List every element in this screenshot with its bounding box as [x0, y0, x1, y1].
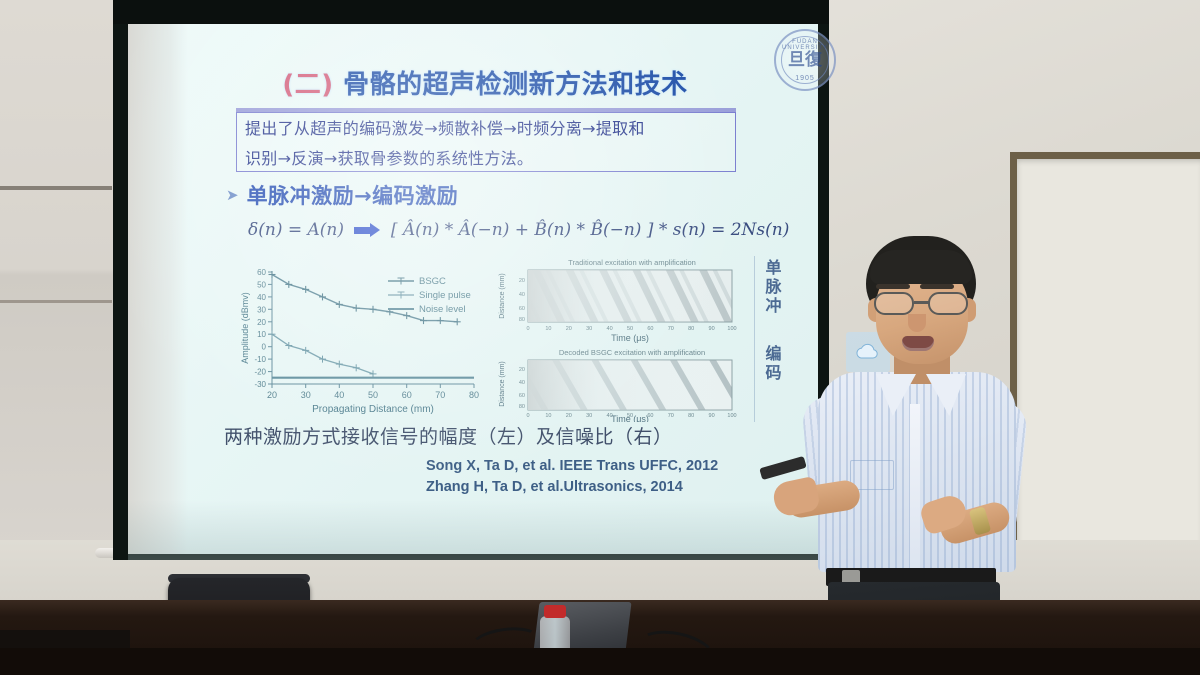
svg-text:80: 80 — [519, 404, 525, 410]
slide-title: (二) 骨骼的超声检测新方法和技术 — [240, 64, 730, 101]
svg-text:20: 20 — [566, 413, 572, 419]
bullet-label: 单脉冲激励→编码激励 — [247, 180, 459, 210]
amplitude-chart-svg: -30-20 -100 1020 3040 5060 2030 4050 607… — [236, 264, 488, 416]
figure-caption: 两种激励方式接收信号的幅度（左）及信噪比（右） — [224, 422, 764, 449]
lecture-photo-scene: (二) 骨骼的超声检测新方法和技术 FUDAN UNIVERSITY 旦復 19… — [0, 0, 1200, 675]
svg-text:30: 30 — [257, 305, 266, 314]
amplitude-vs-distance-chart: -30-20 -100 1020 3040 5060 2030 4050 607… — [236, 264, 488, 416]
x-axis-label: Propagating Distance (mm) — [312, 404, 434, 415]
svg-text:50: 50 — [627, 326, 633, 332]
svg-text:100: 100 — [727, 413, 736, 419]
reference-item: Zhang H, Ta D, et al.Ultrasonics, 2014 — [426, 477, 826, 498]
callout-box: 提出了从超声的编码激发→频散补偿→时频分离→提取和 识别→反演→获取骨参数的系统… — [236, 112, 736, 172]
svg-text:80: 80 — [688, 326, 694, 332]
svg-text:30: 30 — [586, 326, 592, 332]
nose — [908, 314, 926, 332]
side-annotation-column: 单脉冲 编码 — [754, 256, 794, 422]
glasses-lens-right — [928, 292, 968, 315]
logo-characters: 旦復 — [776, 51, 834, 69]
bscan-figures: Traditional excitation with amplificatio… — [492, 256, 750, 422]
glasses-bridge — [914, 301, 930, 304]
chart-legend: BSGC Single pulse Noise level — [388, 276, 471, 315]
svg-text:90: 90 — [709, 413, 715, 419]
bottom-panel-y-label: Distance (mm) — [499, 361, 506, 407]
side-label-encoded: 编码 — [759, 344, 789, 382]
svg-text:40: 40 — [519, 380, 525, 386]
svg-text:70: 70 — [668, 326, 674, 332]
svg-text:0: 0 — [262, 343, 267, 352]
glasses-icon — [872, 292, 972, 316]
svg-text:100: 100 — [727, 326, 736, 332]
legend-label-bsgc: BSGC — [419, 276, 446, 287]
wall-seam-lower — [0, 300, 112, 303]
svg-text:20: 20 — [519, 278, 525, 284]
bullet-row: ➤ 单脉冲激励→编码激励 — [226, 180, 706, 210]
side-label-single-pulse: 单脉冲 — [759, 258, 789, 315]
svg-text:70: 70 — [668, 413, 674, 419]
svg-text:50: 50 — [368, 390, 378, 400]
svg-text:-30: -30 — [254, 380, 266, 389]
bscan-figures-svg: Traditional excitation with amplificatio… — [492, 256, 750, 422]
eyebrow-right — [920, 284, 954, 289]
bullet-arrow-icon: ➤ — [226, 188, 239, 203]
left-wall-panel — [0, 0, 124, 585]
top-panel-y-label: Distance (mm) — [499, 273, 506, 319]
slide-title-prefix: (二) — [282, 70, 333, 100]
svg-text:60: 60 — [402, 390, 412, 400]
svg-text:-10: -10 — [254, 355, 266, 364]
equation-lhs: δ(n) = A(n) — [248, 220, 344, 240]
svg-text:-20: -20 — [254, 368, 266, 377]
bottle-cap — [544, 605, 566, 618]
equation-rhs: [ Â(n) * Â(−n) + B̂(n) * B̂(−n) ] * s(n)… — [391, 220, 790, 240]
svg-text:60: 60 — [519, 393, 525, 399]
eyebrow-left — [876, 284, 910, 289]
svg-text:10: 10 — [545, 413, 551, 419]
svg-text:20: 20 — [257, 318, 266, 327]
svg-text:90: 90 — [709, 326, 715, 332]
shirt-placket — [910, 404, 920, 574]
top-panel-x-label: Time (μs) — [611, 333, 649, 343]
y-axis-label: Amplitude (dBmv) — [240, 292, 250, 364]
svg-text:0: 0 — [526, 413, 529, 419]
svg-text:20: 20 — [519, 367, 525, 373]
equation: δ(n) = A(n) [ Â(n) * Â(−n) + B̂(n) * B̂(… — [248, 220, 788, 240]
svg-text:40: 40 — [257, 293, 266, 302]
right-arrow-icon — [354, 225, 380, 236]
callout-line-1: 提出了从超声的编码激发→频散补偿→时频分离→提取和 — [237, 113, 735, 143]
wall-seam — [0, 186, 112, 190]
svg-text:0: 0 — [526, 326, 529, 332]
svg-text:60: 60 — [647, 326, 653, 332]
svg-text:30: 30 — [301, 390, 311, 400]
legend-label-single-pulse: Single pulse — [419, 290, 471, 301]
screen-left-shadow-strip — [128, 24, 188, 554]
fudan-university-logo: FUDAN UNIVERSITY 旦復 1905 — [774, 29, 836, 91]
svg-text:10: 10 — [545, 326, 551, 332]
svg-text:60: 60 — [519, 306, 525, 312]
desk-lower-front — [0, 648, 1200, 675]
svg-text:80: 80 — [688, 413, 694, 419]
svg-text:30: 30 — [586, 413, 592, 419]
svg-text:60: 60 — [257, 268, 266, 277]
svg-text:80: 80 — [519, 317, 525, 323]
screen-bottom-shading — [128, 500, 818, 560]
slide-title-main: 骨骼的超声检测新方法和技术 — [343, 70, 688, 100]
projection-screen-top-bar — [113, 0, 829, 24]
bottom-panel-x-label: Time (μs) — [611, 414, 649, 422]
legend-label-noise-level: Noise level — [419, 304, 465, 315]
svg-text:20: 20 — [566, 326, 572, 332]
bottom-panel-title: Decoded BSGC excitation with amplificati… — [559, 348, 705, 357]
svg-text:10: 10 — [257, 330, 266, 339]
svg-text:80: 80 — [469, 390, 479, 400]
glasses-lens-left — [874, 292, 914, 315]
svg-text:70: 70 — [435, 390, 445, 400]
hair-fringe — [870, 250, 972, 284]
svg-text:20: 20 — [267, 390, 277, 400]
callout-line-2: 识别→反演→获取骨参数的系统性方法。 — [237, 143, 735, 173]
top-panel-title: Traditional excitation with amplificatio… — [568, 258, 696, 267]
logo-year: 1905 — [776, 75, 834, 82]
svg-text:40: 40 — [334, 390, 344, 400]
mouth — [902, 336, 934, 351]
svg-text:50: 50 — [257, 280, 266, 289]
svg-text:40: 40 — [607, 326, 613, 332]
presentation-slide: (二) 骨骼的超声检测新方法和技术 FUDAN UNIVERSITY 旦復 19… — [188, 24, 818, 554]
svg-text:40: 40 — [519, 292, 525, 298]
